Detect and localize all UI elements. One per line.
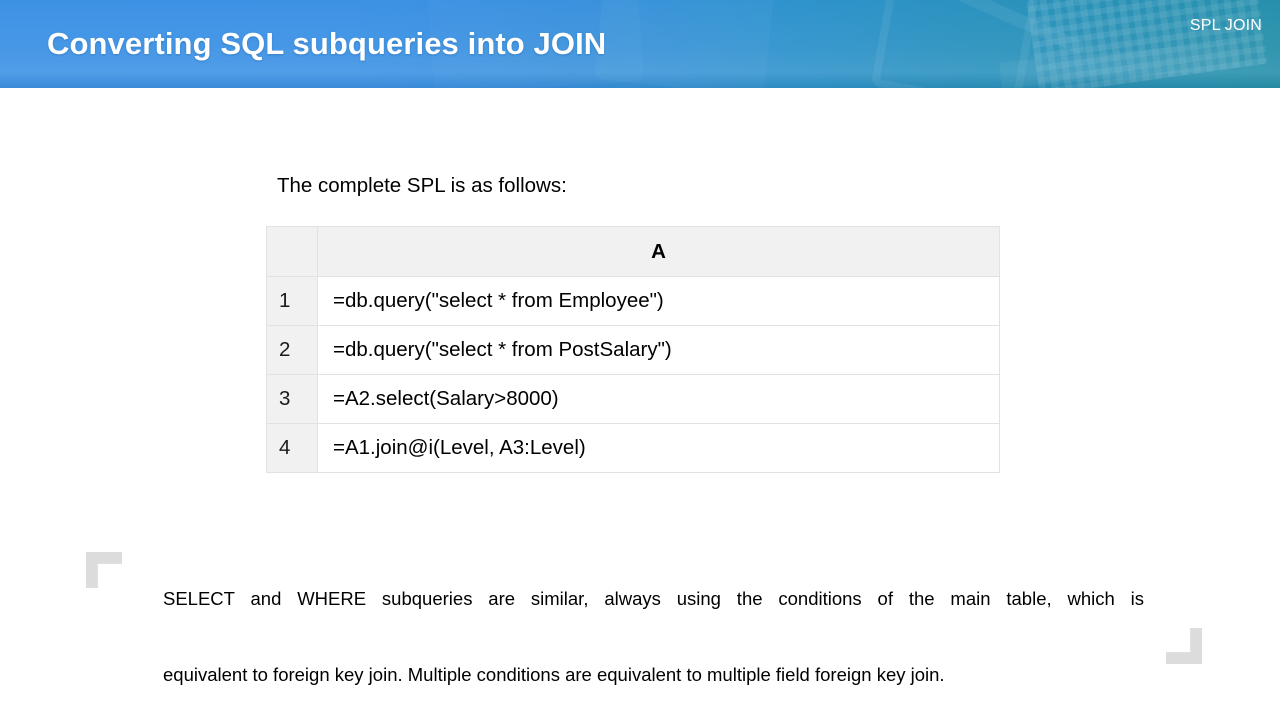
- row-code-cell: =A1.join@i(Level, A3:Level): [318, 424, 1000, 473]
- footnote-paragraph: SELECT and WHERE subqueries are similar,…: [163, 580, 1144, 694]
- page-title: Converting SQL subqueries into JOIN: [47, 26, 606, 62]
- table-row: 4 =A1.join@i(Level, A3:Level): [267, 424, 1000, 473]
- corner-bracket-top-left-icon: [86, 552, 122, 588]
- table-row: 2 =db.query("select * from PostSalary"): [267, 326, 1000, 375]
- slide-header-banner: Converting SQL subqueries into JOIN SPL …: [0, 0, 1280, 88]
- spl-table-body: 1 =db.query("select * from Employee") 2 …: [267, 277, 1000, 473]
- row-code-cell: =A2.select(Salary>8000): [318, 375, 1000, 424]
- spl-code-table: A 1 =db.query("select * from Employee") …: [266, 226, 1000, 473]
- table-row: 1 =db.query("select * from Employee"): [267, 277, 1000, 326]
- footnote-line-2: equivalent to foreign key join. Multiple…: [163, 656, 1144, 694]
- row-index-cell: 3: [267, 375, 318, 424]
- slide-canvas: Converting SQL subqueries into JOIN SPL …: [0, 0, 1280, 720]
- corner-bracket-bottom-right-icon: [1166, 628, 1202, 664]
- lead-text: The complete SPL is as follows:: [277, 174, 567, 198]
- row-index-cell: 2: [267, 326, 318, 375]
- row-index-cell: 1: [267, 277, 318, 326]
- column-header-index: [267, 227, 318, 277]
- table-header-row: A: [267, 227, 1000, 277]
- header-topic-tag: SPL JOIN: [1190, 17, 1262, 35]
- row-code-cell: =db.query("select * from Employee"): [318, 277, 1000, 326]
- row-index-cell: 4: [267, 424, 318, 473]
- column-header-a: A: [318, 227, 1000, 277]
- footnote-line-1: SELECT and WHERE subqueries are similar,…: [163, 580, 1144, 656]
- spl-table-header: A: [267, 227, 1000, 277]
- table-row: 3 =A2.select(Salary>8000): [267, 375, 1000, 424]
- row-code-cell: =db.query("select * from PostSalary"): [318, 326, 1000, 375]
